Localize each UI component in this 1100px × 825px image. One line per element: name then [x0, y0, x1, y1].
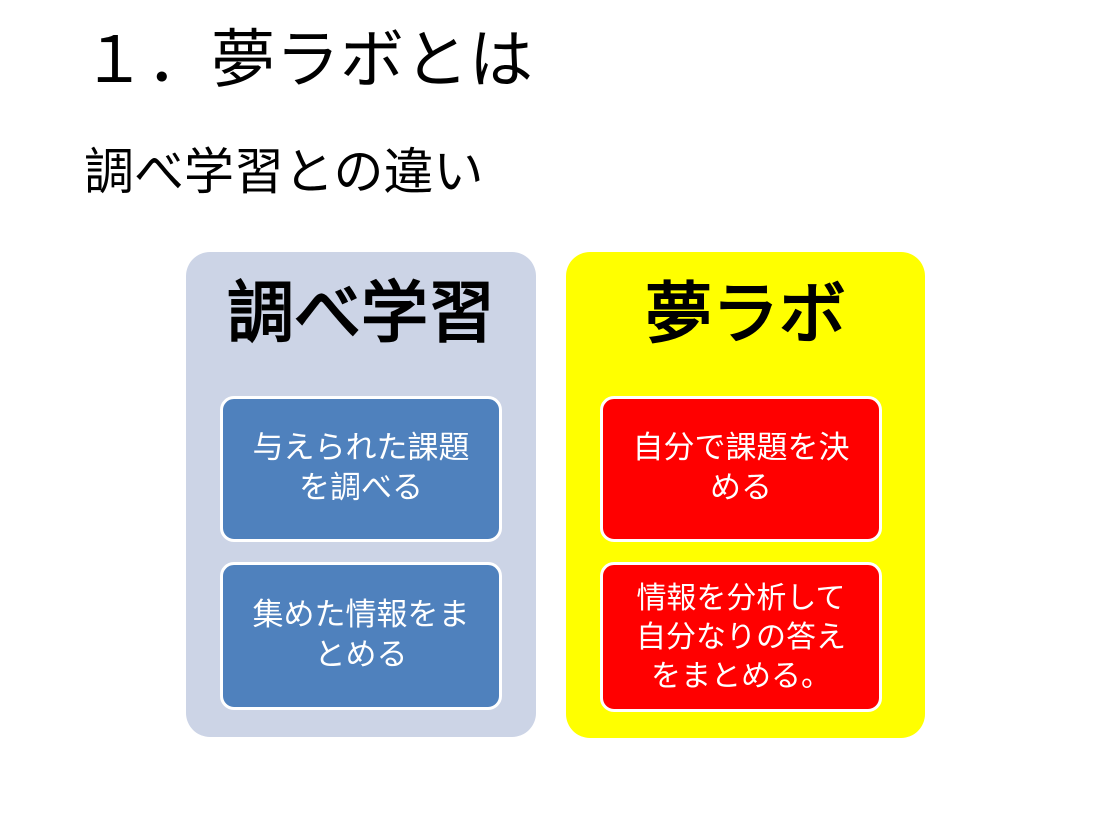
- card-shirabe-gakushu-1: 与えられた課題 を調べる: [220, 396, 502, 542]
- panel-heading-yume-labo: 夢ラボ: [566, 281, 925, 348]
- card-label: 自分で課題を決 める: [623, 429, 860, 508]
- panel-heading-shirabe-gakushu: 調べ学習: [186, 280, 536, 347]
- page-title: １．夢ラボとは: [82, 28, 534, 95]
- card-yume-labo-2: 情報を分析して 自分なりの答え をまとめる。: [600, 562, 882, 712]
- comparison-panel-yume-labo: 夢ラボ 自分で課題を決 める 情報を分析して 自分なりの答え をまとめる。: [566, 252, 925, 738]
- card-label: 与えられた課題 を調べる: [243, 429, 480, 508]
- card-label: 集めた情報をま とめる: [243, 596, 480, 675]
- card-shirabe-gakushu-2: 集めた情報をま とめる: [220, 562, 502, 710]
- card-yume-labo-1: 自分で課題を決 める: [600, 396, 882, 542]
- comparison-panel-shirabe-gakushu: 調べ学習 与えられた課題 を調べる 集めた情報をま とめる: [186, 252, 536, 737]
- slide-canvas: １．夢ラボとは 調べ学習との違い 調べ学習 与えられた課題 を調べる 集めた情報…: [0, 0, 1100, 825]
- page-subtitle: 調べ学習との違い: [84, 146, 484, 199]
- card-label: 情報を分析して 自分なりの答え をまとめる。: [626, 579, 856, 696]
